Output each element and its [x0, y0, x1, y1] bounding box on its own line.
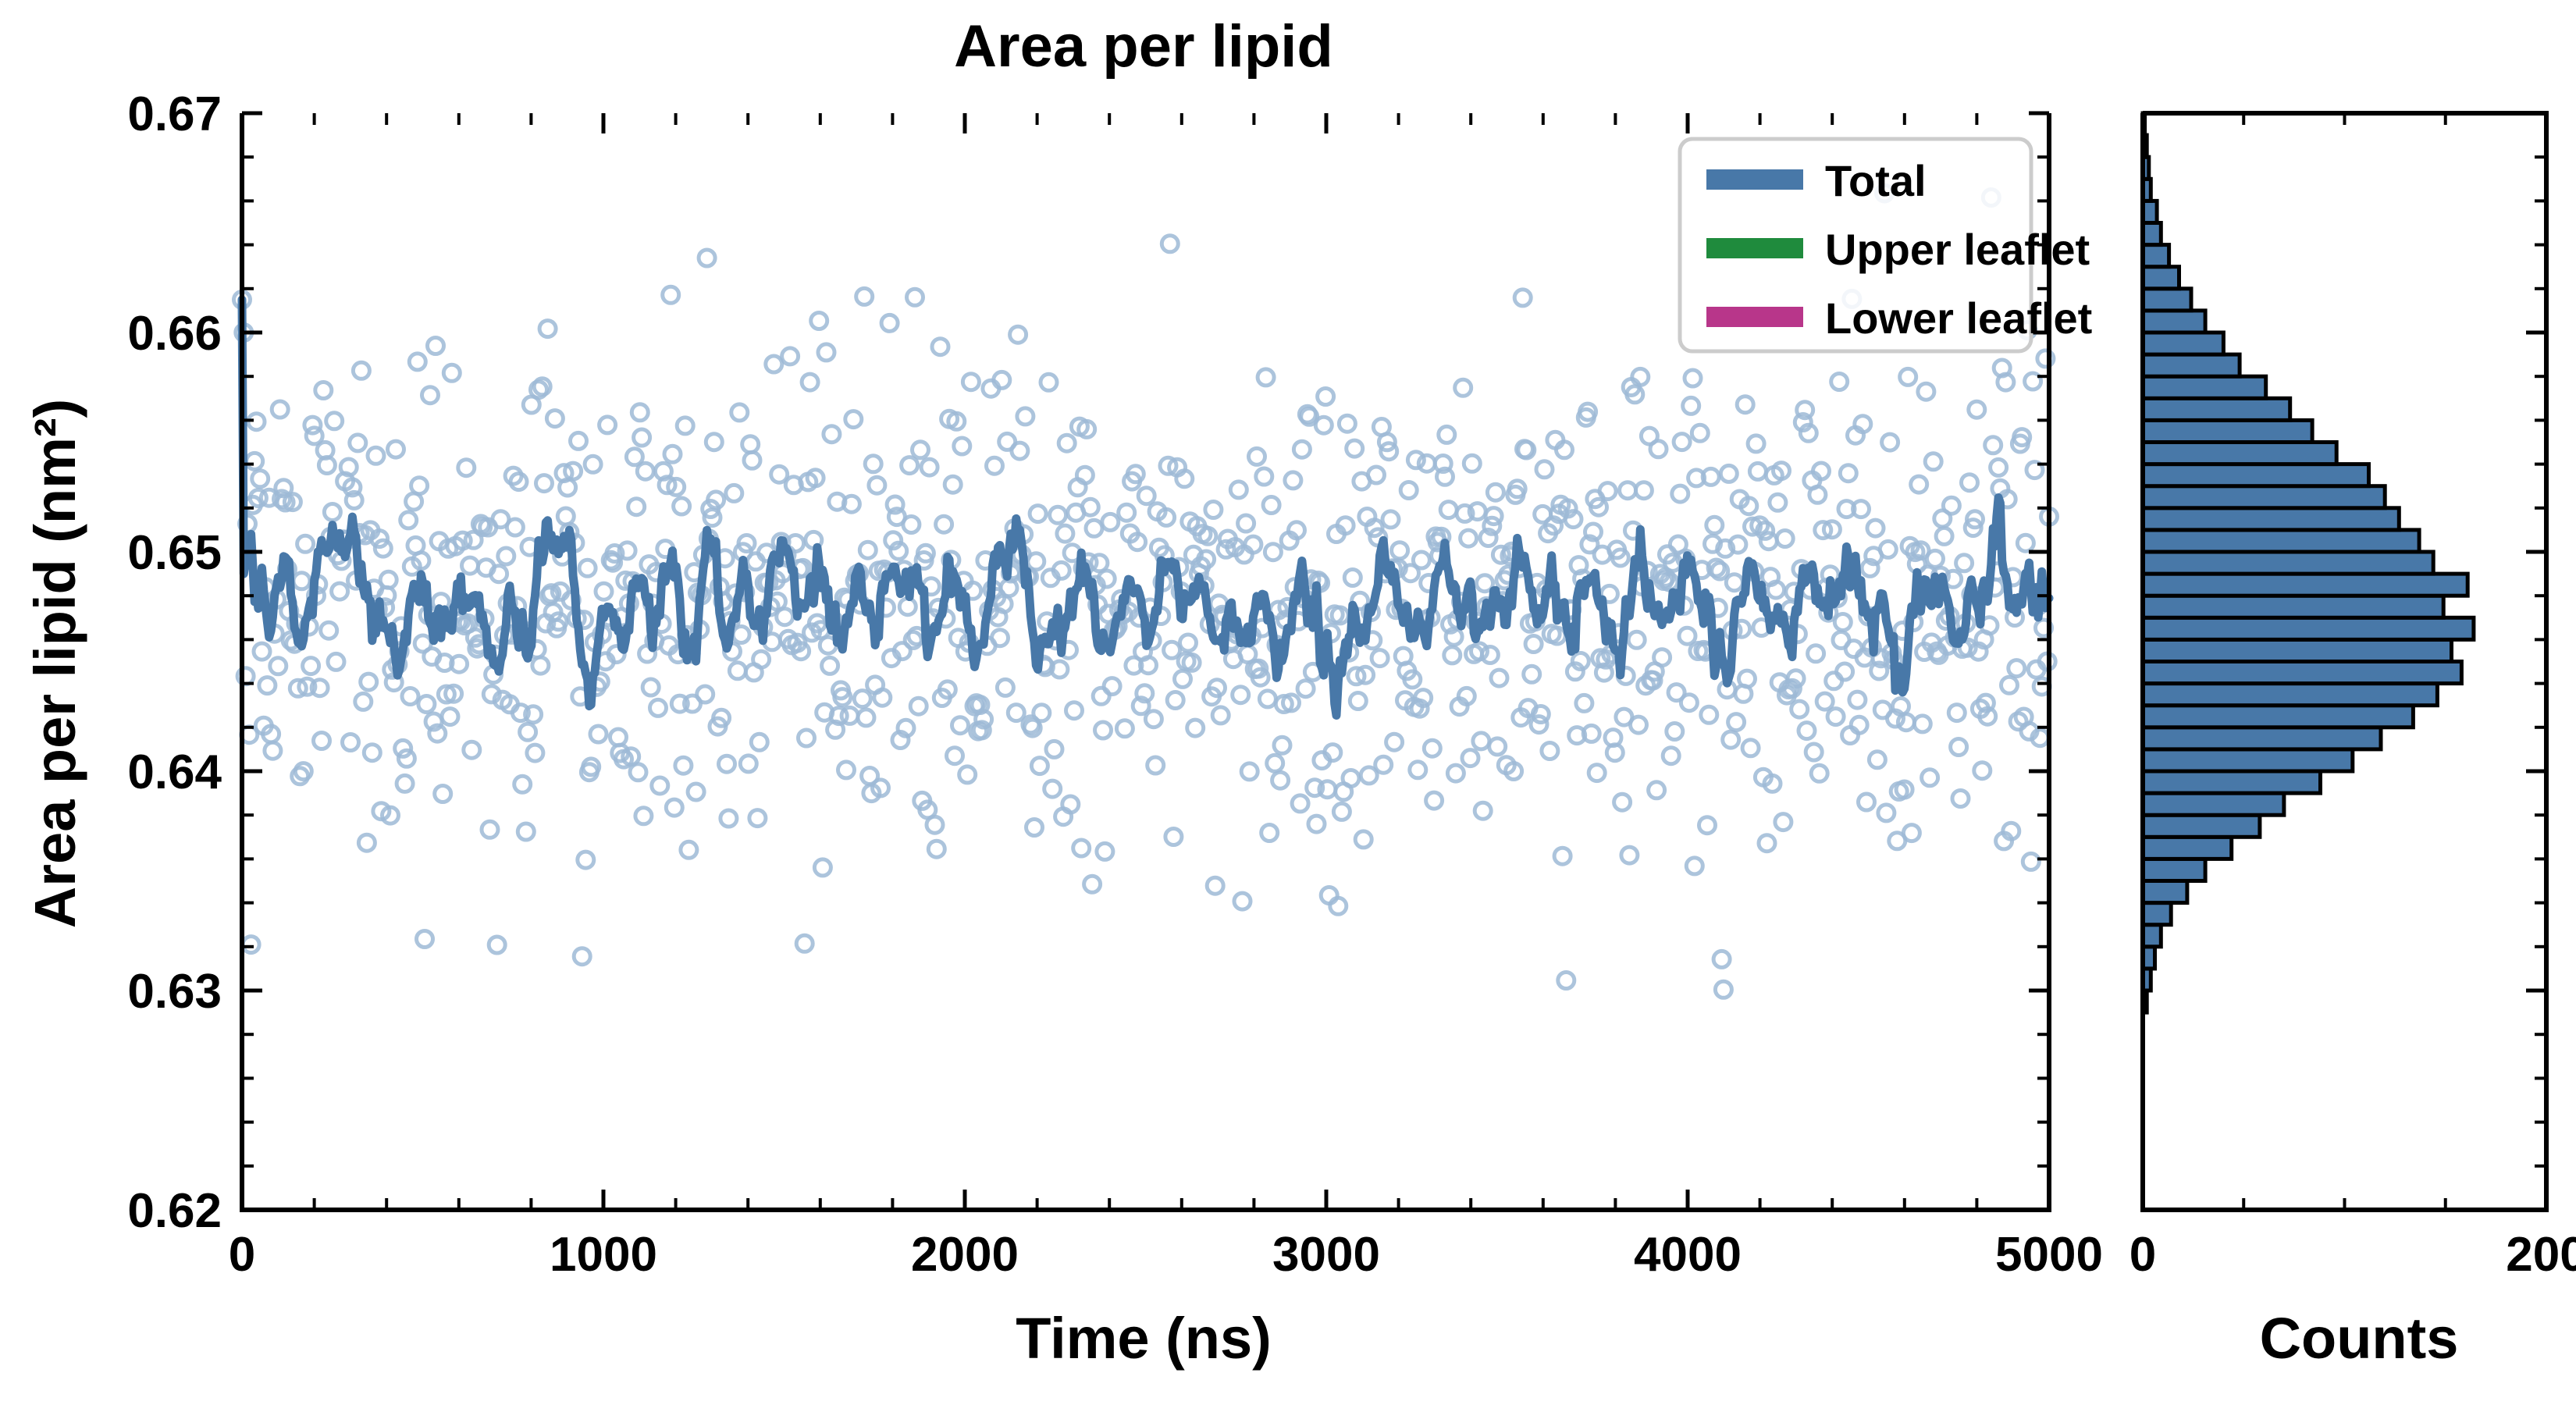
histogram-bar — [2143, 903, 2171, 925]
histogram-bar — [2143, 793, 2284, 815]
y-tick-label: 0.62 — [127, 1184, 222, 1238]
histogram-bar — [2143, 859, 2205, 880]
histogram-bar — [2143, 245, 2169, 267]
histogram-bar — [2143, 574, 2467, 596]
histogram-bar — [2143, 420, 2312, 442]
hist-x-tick-label: 0 — [2129, 1228, 2156, 1282]
histogram-bar — [2143, 333, 2223, 354]
histogram-bar — [2143, 617, 2474, 639]
hist-x-axis-label: Counts — [2260, 1306, 2459, 1371]
legend-swatch — [1706, 307, 1803, 327]
x-tick-label: 3000 — [1272, 1228, 1380, 1282]
histogram-bar — [2143, 443, 2336, 464]
histogram-bar — [2143, 727, 2381, 749]
histogram-bar — [2143, 684, 2437, 706]
histogram-bar — [2143, 530, 2419, 552]
x-tick-label: 1000 — [550, 1228, 657, 1282]
histogram-bar — [2143, 223, 2161, 245]
page-title: Area per lipid — [954, 13, 1333, 80]
legend-label[interactable]: Lower leaflet — [1825, 293, 2092, 343]
histogram-bar — [2143, 662, 2461, 684]
legend[interactable]: TotalUpper leafletLower leaflet — [1680, 139, 2092, 351]
histogram-bar — [2143, 815, 2260, 837]
y-tick-label: 0.63 — [127, 965, 222, 1019]
legend-swatch — [1706, 238, 1803, 258]
histogram-bar — [2143, 837, 2232, 859]
histogram-bar — [2143, 596, 2443, 617]
y-tick-label: 0.64 — [127, 745, 222, 799]
histogram-bar — [2143, 749, 2353, 771]
histogram-bar — [2143, 639, 2452, 661]
histogram-bar — [2143, 464, 2369, 486]
histogram-bar — [2143, 311, 2205, 333]
histogram-bar — [2143, 552, 2433, 574]
histogram-bar — [2143, 706, 2413, 727]
histogram-bar — [2143, 398, 2290, 420]
y-axis-label: Area per lipid (nm²) — [23, 399, 87, 928]
histogram-bar — [2143, 771, 2321, 793]
x-tick-label: 4000 — [1634, 1228, 1742, 1282]
legend-label[interactable]: Total — [1825, 156, 1927, 205]
histogram-bar — [2143, 267, 2179, 289]
histogram-bar — [2143, 508, 2399, 530]
area-per-lipid-figure: Area per lipid 0100020003000400050000.62… — [0, 0, 2576, 1405]
y-tick-label: 0.65 — [127, 526, 222, 580]
hist-x-tick-label: 200 — [2506, 1228, 2576, 1282]
x-tick-label: 0 — [229, 1228, 255, 1282]
x-axis-label: Time (ns) — [1016, 1306, 1272, 1371]
x-tick-label: 2000 — [911, 1228, 1019, 1282]
legend-label[interactable]: Upper leaflet — [1825, 225, 2090, 274]
x-tick-label: 5000 — [1995, 1228, 2103, 1282]
y-tick-label: 0.67 — [127, 87, 222, 141]
figure-root: Area per lipid 0100020003000400050000.62… — [0, 0, 2576, 1405]
histogram-bar — [2143, 881, 2187, 903]
histogram-bar — [2143, 289, 2191, 311]
histogram-bar — [2143, 925, 2161, 947]
histogram-bar — [2143, 354, 2240, 376]
legend-swatch — [1706, 169, 1803, 190]
histogram-bar — [2143, 376, 2266, 398]
histogram-bar — [2143, 486, 2385, 508]
y-tick-label: 0.66 — [127, 307, 222, 361]
